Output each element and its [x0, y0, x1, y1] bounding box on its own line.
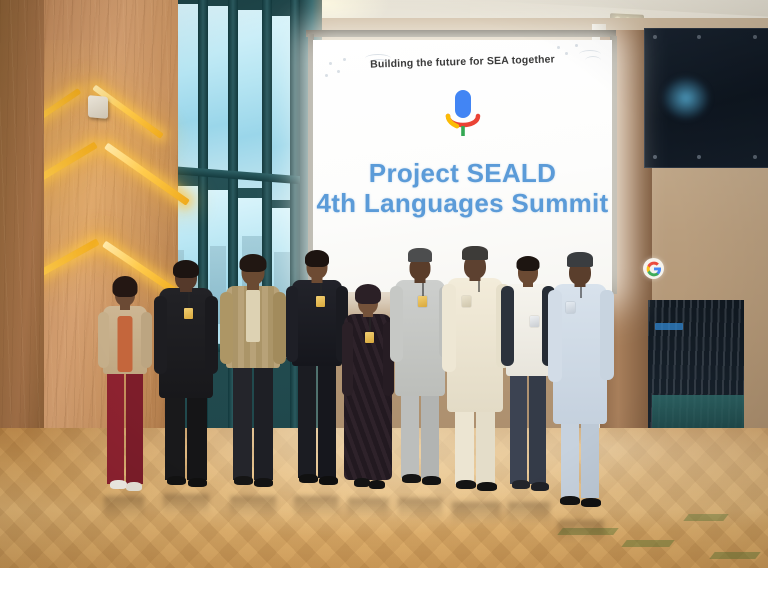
leg — [233, 364, 252, 480]
person-8-legs — [508, 372, 548, 484]
lanyard — [188, 290, 190, 308]
shoe — [512, 480, 530, 489]
lanyard — [369, 316, 371, 332]
person-7-legs — [453, 402, 497, 484]
arm — [98, 312, 109, 368]
arm — [141, 312, 152, 368]
niche-bolt — [697, 35, 701, 39]
window-pane — [238, 10, 264, 188]
person-1-legs — [105, 368, 145, 484]
window-pane — [206, 6, 228, 176]
niche-reflection-glow — [663, 77, 709, 119]
slide-title: Project SEALD 4th Languages Summit — [313, 158, 612, 218]
slide-title-line-1: Project SEALD — [313, 158, 612, 188]
leg — [254, 364, 273, 480]
photograph-frame: Building the future for SEA together Pro… — [0, 0, 768, 591]
wall-signage — [655, 323, 683, 330]
leg — [126, 368, 143, 484]
niche-bolt — [697, 155, 701, 159]
shoe — [319, 476, 338, 485]
person-5 — [342, 282, 394, 500]
person-7 — [444, 252, 506, 504]
shoe — [234, 476, 253, 485]
name-badge — [316, 296, 325, 307]
floor-reflection — [398, 498, 442, 520]
arm — [220, 292, 233, 364]
arm — [600, 290, 614, 380]
floor-reflection — [294, 496, 338, 518]
person-8 — [502, 258, 554, 504]
slide-title-line-2: 4th Languages Summit — [313, 188, 612, 218]
headwrap — [355, 284, 381, 304]
shoe — [369, 480, 385, 489]
upper-wall-niche — [644, 28, 768, 168]
floor-reflection — [558, 520, 604, 542]
shoe — [581, 498, 601, 507]
conference-group-photo: Building the future for SEA together Pro… — [0, 0, 768, 568]
leg — [298, 360, 316, 478]
floor-inlay-stripe — [709, 552, 760, 559]
window-pane — [272, 16, 292, 200]
name-badge — [418, 296, 427, 307]
screen-top-rail — [306, 30, 616, 37]
leg — [107, 368, 124, 484]
shoe — [126, 482, 142, 491]
google-g-icon — [643, 258, 664, 279]
arm — [205, 296, 218, 374]
shoe — [456, 480, 476, 489]
shoe — [531, 482, 549, 491]
slide-tagline: Building the future for SEA together — [313, 52, 612, 72]
floor-reflection — [348, 498, 388, 518]
person-4-legs — [296, 360, 338, 478]
person-3 — [222, 258, 284, 498]
arm — [154, 296, 167, 374]
slide-decoration-dot — [575, 44, 578, 47]
shoe — [477, 482, 497, 491]
leg — [318, 360, 336, 478]
leg — [529, 372, 546, 484]
person-1-inner-top — [118, 316, 133, 372]
name-badge — [462, 296, 471, 307]
arm — [442, 284, 456, 372]
name-badge — [566, 302, 575, 313]
shoe — [402, 474, 421, 483]
photo-bottom-border — [0, 568, 768, 591]
floor-reflection — [104, 496, 144, 520]
shoe — [254, 478, 273, 487]
floor-reflection — [508, 502, 550, 524]
leg — [561, 414, 579, 498]
hair — [517, 256, 540, 271]
person-4-torso — [292, 280, 342, 366]
leg — [581, 414, 599, 498]
arm — [273, 292, 286, 364]
floor-inlay-stripe — [621, 540, 674, 547]
floor-inlay-stripe — [683, 514, 728, 521]
person-4 — [288, 254, 346, 498]
person-9-legs — [559, 414, 601, 498]
shoe — [110, 480, 127, 489]
person-3-shirt — [246, 290, 260, 342]
person-6-legs — [399, 386, 441, 478]
hair — [240, 254, 267, 272]
hair — [173, 260, 199, 278]
leg — [476, 402, 495, 484]
niche-bolt — [653, 155, 657, 159]
floor-reflection — [163, 494, 209, 516]
leg — [510, 372, 527, 484]
floor-reflection — [230, 496, 276, 518]
niche-bolt — [653, 35, 657, 39]
hair — [113, 276, 138, 297]
arm — [286, 286, 298, 362]
shoe — [167, 476, 186, 485]
traditional-cap — [462, 246, 488, 260]
arm — [390, 286, 403, 362]
arm — [342, 322, 353, 396]
vest-panel — [501, 286, 514, 366]
google-assistant-mic-icon — [442, 88, 484, 140]
leg — [455, 402, 474, 484]
slide-decoration-dot — [557, 46, 560, 49]
name-badge — [365, 332, 374, 343]
leg — [421, 386, 439, 478]
person-9 — [550, 256, 610, 522]
floor-reflection — [452, 502, 500, 524]
slide-decoration-dot — [325, 74, 328, 77]
person-6 — [392, 254, 448, 500]
person-2 — [155, 262, 217, 496]
shoe — [560, 496, 580, 505]
hair — [305, 250, 329, 267]
arm — [548, 290, 562, 382]
person-3-legs — [231, 364, 275, 480]
niche-bolt — [753, 35, 757, 39]
name-badge — [530, 316, 539, 327]
traditional-cap — [567, 252, 593, 267]
shoe — [299, 474, 318, 483]
leg — [401, 386, 419, 478]
shoe — [354, 478, 370, 487]
traditional-cap — [408, 248, 432, 262]
shoe — [422, 476, 441, 485]
person-1 — [98, 276, 152, 498]
shoe — [188, 478, 207, 487]
wall-sensor-device — [88, 95, 108, 119]
name-badge — [184, 308, 193, 319]
niche-bolt — [753, 155, 757, 159]
